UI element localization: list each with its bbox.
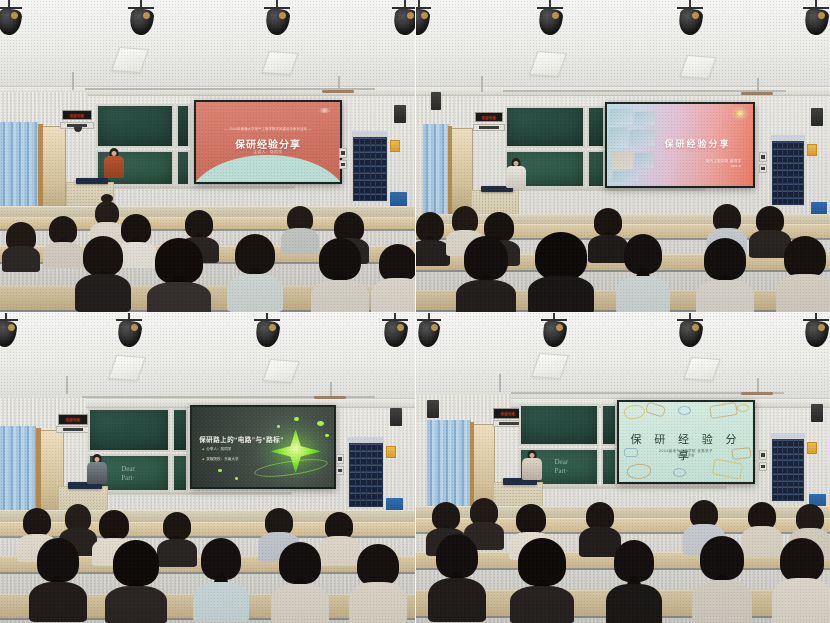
student-silhouette xyxy=(701,238,749,312)
photo-top-left: 欢迎光临 — 2024年南通大学电气工程学院学风建设月系列活动 — 保研经验分享 xyxy=(0,0,415,312)
lecture-hall-scene: 欢迎光临 — 2024年南通大学电气工程学院学风建设月系列活动 — 保研经验分享 xyxy=(0,0,415,312)
projector-screen-frame: 保研经验分享 电气工程学院 姜同学 2024.11 xyxy=(605,102,755,188)
led-sign-text: 欢迎光临 xyxy=(501,411,515,416)
slide-kicker: — 2024年南通大学电气工程学院学风建设月系列活动 — xyxy=(196,126,340,131)
chalkboard-left xyxy=(88,408,170,452)
doodle-shape xyxy=(627,464,651,478)
lecture-hall-scene: 欢迎光临 xyxy=(415,0,830,312)
slide-title: 保研经验分享 xyxy=(651,137,744,150)
chalkboard-right-lower xyxy=(601,448,617,486)
slide-subtitle-secondary: 经验交流会 xyxy=(619,453,753,457)
ceiling-fan-stem xyxy=(499,374,501,392)
window-curtain xyxy=(423,124,449,224)
student-silhouette xyxy=(80,236,126,310)
slide-title: 保研路上的“电路”与“路标” xyxy=(199,434,281,444)
phone-storage-cabinet xyxy=(352,136,388,202)
student-silhouette xyxy=(152,238,206,312)
student-silhouette xyxy=(461,236,511,312)
slide-title: 保 研 经 验 分 享 xyxy=(619,431,753,463)
student-silhouette xyxy=(433,534,481,620)
wall-poster xyxy=(386,446,396,458)
photo-bottom-left: 欢迎光临 Dear Part· xyxy=(0,312,415,623)
chalkboard-right xyxy=(176,104,190,148)
wall-switch-panel xyxy=(336,454,344,464)
wall-speaker xyxy=(427,400,439,418)
slide-subtitle-secondary: 2024.11 xyxy=(668,164,741,168)
ceiling-fan-stem xyxy=(330,382,332,396)
chalkboard-left xyxy=(505,106,585,148)
chalkboard-writing: Dear Part· xyxy=(554,458,568,476)
ceiling-fan-stem xyxy=(757,378,759,392)
photo-top-right: 欢迎光临 xyxy=(415,0,830,312)
photo-collage: 欢迎光临 — 2024年南通大学电气工程学院学风建设月系列活动 — 保研经验分享 xyxy=(0,0,830,623)
ceiling xyxy=(415,0,830,97)
led-sign: 欢迎光临 xyxy=(62,110,92,120)
wall-speaker xyxy=(74,124,82,132)
wall-speaker xyxy=(811,108,823,126)
wall-speaker xyxy=(394,105,406,123)
student-silhouette xyxy=(376,244,415,312)
student-silhouette xyxy=(515,538,569,623)
student-silhouette xyxy=(160,512,194,566)
slide-badge xyxy=(734,109,746,118)
ceiling-fan-blade xyxy=(314,396,346,399)
student-silhouette xyxy=(316,238,364,312)
wall-speaker xyxy=(390,408,402,426)
wall-switch-panel xyxy=(759,152,767,162)
chalk-tray xyxy=(96,186,294,189)
chalkboard-left xyxy=(519,404,599,446)
wall-speaker-mount xyxy=(473,124,505,131)
wall-speaker-mount xyxy=(56,426,90,433)
chalkboard-right xyxy=(601,404,617,446)
student-silhouette xyxy=(232,234,278,310)
presenter xyxy=(100,148,128,184)
student-silhouette xyxy=(276,542,324,623)
ceiling-fan-stem xyxy=(66,376,68,394)
student-silhouette xyxy=(46,216,80,264)
projector-screen-frame: — 2024年南通大学电气工程学院学风建设月系列活动 — 保研经验分享 主讲人：… xyxy=(194,100,342,184)
chalkboard-right-lower xyxy=(172,454,188,492)
slide-subtitle: 主讲人：张同学 xyxy=(196,150,340,155)
student-silhouette xyxy=(354,544,402,623)
student-silhouette xyxy=(34,538,82,620)
chalkboard-right xyxy=(587,106,605,148)
wall-switch-panel xyxy=(339,148,347,158)
student-silhouette xyxy=(745,502,779,558)
slide-bullet: 录取院校：东南大学 xyxy=(202,457,239,462)
student-silhouette xyxy=(611,540,657,623)
lecture-hall-scene: 欢迎光临 Dear Part· xyxy=(0,312,415,623)
doodle-shape xyxy=(709,402,737,418)
slide-coral-teal: — 2024年南通大学电气工程学院学风建设月系列活动 — 保研经验分享 主讲人：… xyxy=(196,102,340,182)
ceiling-fan-stem xyxy=(338,76,340,90)
lecture-hall-scene: 欢迎光临 Dear Part· xyxy=(415,312,830,623)
wall-switch-panel xyxy=(339,160,347,169)
presenter xyxy=(84,454,110,488)
slide-gradient-collage: 保研经验分享 电气工程学院 姜同学 2024.11 xyxy=(607,104,753,186)
student-silhouette xyxy=(198,538,244,620)
phone-storage-cabinet xyxy=(348,442,384,508)
cabinet-header xyxy=(771,433,805,438)
ceiling xyxy=(0,0,415,97)
led-sign-text: 欢迎光临 xyxy=(482,115,496,120)
ceiling-fan-blade xyxy=(741,392,773,395)
wall-poster xyxy=(390,140,400,152)
slide-subtitle: 电气工程学院 姜同学 xyxy=(668,158,741,163)
wall-switch-panel xyxy=(759,450,767,460)
ceiling-fan-blade xyxy=(741,92,773,95)
presenter xyxy=(503,158,529,192)
ceiling-fan-stem xyxy=(757,78,759,92)
slide-sparkle xyxy=(277,425,280,428)
student-silhouette xyxy=(781,236,829,312)
ceiling-fan-blade xyxy=(322,90,354,93)
student-silhouette xyxy=(591,208,625,262)
chalkboard-writing: Dear Part· xyxy=(121,465,135,483)
cabinet-header xyxy=(352,131,388,136)
projector-screen-frame: 保 研 经 验 分 享 2024级电气工程学院 优秀学子 经验交流会 xyxy=(617,400,755,484)
chalkboard-right-lower xyxy=(587,150,605,188)
student-silhouette xyxy=(4,222,38,266)
ceiling-fan-stem xyxy=(72,72,74,90)
student-silhouette xyxy=(110,540,162,623)
cabinet-header xyxy=(771,135,805,140)
doodle-shape xyxy=(673,468,686,478)
chalk-tray xyxy=(505,188,705,191)
wall-speaker xyxy=(811,404,823,422)
slide-sparkle xyxy=(294,417,299,421)
wall-poster xyxy=(807,442,817,454)
presenter xyxy=(519,450,545,484)
doodle-shape xyxy=(678,406,691,415)
slide-mint-doodle: 保 研 经 验 分 享 2024级电气工程学院 优秀学子 经验交流会 xyxy=(619,402,753,482)
led-sign: 欢迎光临 xyxy=(475,112,503,122)
phone-storage-cabinet xyxy=(771,140,805,206)
student-silhouette xyxy=(415,212,447,262)
chalk-tray xyxy=(519,486,727,489)
chalkboard-left xyxy=(96,104,174,148)
photo-bottom-right: 欢迎光临 Dear Part· xyxy=(415,312,830,623)
led-sign-text: 欢迎光临 xyxy=(70,113,84,118)
wall-switch-panel xyxy=(336,466,344,475)
doodle-shape xyxy=(623,403,647,422)
projector-screen: 保研经验分享 电气工程学院 姜同学 2024.11 xyxy=(607,104,753,186)
wall-switch-panel xyxy=(759,164,767,173)
wall-switch-panel xyxy=(759,462,767,471)
student-silhouette xyxy=(621,234,665,312)
cabinet-header xyxy=(348,437,384,442)
projector-screen: 保研路上的“电路”与“路标” 分享人：陆同学 录取院校：东南大学 xyxy=(192,407,334,487)
phone-storage-cabinet xyxy=(771,438,805,502)
ceiling-fan-stem xyxy=(481,76,483,92)
chalkboard-right xyxy=(172,408,188,452)
led-sign: 欢迎光临 xyxy=(58,414,88,425)
chalkboard-right-lower xyxy=(176,150,190,186)
student-silhouette xyxy=(697,536,747,623)
ceiling xyxy=(0,312,415,408)
projector-screen-frame: 保研路上的“电路”与“路标” 分享人：陆同学 录取院校：东南大学 xyxy=(190,405,336,489)
doodle-shape xyxy=(645,402,666,417)
student-silhouette xyxy=(322,512,356,566)
wall-poster xyxy=(807,144,817,156)
doodle-shape xyxy=(737,404,749,412)
student-silhouette xyxy=(777,538,827,623)
projector-screen: 保 研 经 验 分 享 2024级电气工程学院 优秀学子 经验交流会 xyxy=(619,402,753,482)
student-silhouette xyxy=(284,206,316,256)
slide-dark-star: 保研路上的“电路”与“路标” 分享人：陆同学 录取院校：东南大学 xyxy=(192,407,334,487)
collage-seam-horizontal xyxy=(0,312,830,313)
chalk-tray xyxy=(88,492,292,495)
student-silhouette xyxy=(533,232,589,312)
projector-screen: — 2024年南通大学电气工程学院学风建设月系列活动 — 保研经验分享 主讲人：… xyxy=(196,102,340,182)
wall-speaker xyxy=(431,92,441,110)
slide-bullet: 分享人：陆同学 xyxy=(202,447,231,452)
led-sign-text: 欢迎光临 xyxy=(66,417,80,422)
